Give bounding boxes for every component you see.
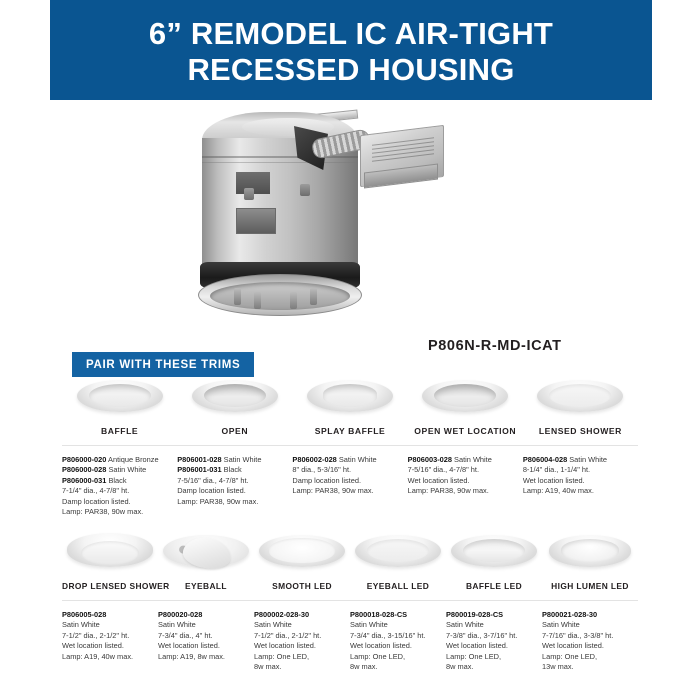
trim-spec-line: 8w max. (350, 662, 440, 672)
trim-label-lensed-shower: LENSED SHOWER (523, 426, 638, 436)
trim-thumb-open (177, 372, 292, 420)
trim-spec-line: P800018-028-CS (350, 610, 440, 620)
trim-spec-line: Satin White (350, 620, 440, 630)
trim-spec-line: P800019-028-CS (446, 610, 536, 620)
trim-cell-splay-baffle[interactable]: SPLAY BAFFLE (292, 372, 407, 436)
trim-label-splay-baffle: SPLAY BAFFLE (292, 426, 407, 436)
housing-clip-3 (290, 292, 297, 309)
trim-spec-line: Lamp: PAR38, 90w max. (62, 507, 169, 517)
trim-spec-line: 7-7/16" dia., 3-3/8" ht. (542, 631, 632, 641)
trim-spec-line: Wet location listed. (542, 641, 632, 651)
trim-spec-line: Lamp: PAR38, 90w max. (408, 486, 515, 496)
trim-spec-line: 8w max. (446, 662, 536, 672)
trim-label-high-lumen-led: HIGH LUMEN LED (542, 581, 638, 591)
model-number: P806N-R-MD-ICAT (428, 338, 562, 354)
trim-spec-line: P806001-028 Satin White (177, 455, 284, 465)
trim-spec-line: P806001-031 Black (177, 465, 284, 475)
trim-label-open: OPEN (177, 426, 292, 436)
baffle-led-trim-icon (451, 531, 537, 571)
trims-grid: BAFFLE OPEN SPLAY (0, 372, 700, 679)
trim-spec-line: Lamp: PAR38, 90w max. (292, 486, 399, 496)
trim-label-eyeball: EYEBALL (158, 581, 254, 591)
trim-spec-line: 7-3/8" dia., 3-7/16" ht. (446, 631, 536, 641)
trim-spec-line: Lamp: One LED, (542, 652, 632, 662)
housing-clip-4 (310, 288, 317, 305)
drop-lensed-shower-trim-icon (67, 531, 153, 571)
trim-cell-high-lumen-led[interactable]: HIGH LUMEN LED (542, 527, 638, 591)
trim-spec-open-wet-location: P806003-028 Satin White7-5/16" dia., 4-7… (408, 455, 523, 517)
trim-spec-line: Lamp: One LED, (254, 652, 344, 662)
trim-spec-line: 7-3/4" dia., 3-15/16" ht. (350, 631, 440, 641)
trim-spec-line: Wet location listed. (446, 641, 536, 651)
splay-baffle-trim-icon (307, 376, 393, 416)
trim-spec-line: Damp location listed. (62, 497, 169, 507)
trim-spec-line: P806005-028 (62, 610, 152, 620)
trims-row-1-thumbnails: BAFFLE OPEN SPLAY (0, 372, 700, 436)
eyeball-led-trim-icon (355, 531, 441, 571)
trim-spec-line: P806000-020 Antique Bronze (62, 455, 169, 465)
trim-spec-line: Wet location listed. (350, 641, 440, 651)
trim-thumb-drop-lensed-shower (62, 527, 158, 575)
trim-spec-line: Satin White (542, 620, 632, 630)
housing-cylinder (202, 138, 358, 278)
hero-product-section: P806N-R-MD-ICAT (0, 104, 700, 334)
high-lumen-led-trim-icon (547, 531, 633, 571)
housing-tab-left (244, 188, 254, 200)
housing-clip-1 (234, 288, 241, 305)
trim-thumb-baffle (62, 372, 177, 420)
trim-cell-lensed-shower[interactable]: LENSED SHOWER (523, 372, 638, 436)
housing-clip-2 (254, 292, 261, 309)
trim-spec-line: P806000-028 Satin White (62, 465, 169, 475)
trim-thumb-eyeball-led (350, 527, 446, 575)
trim-spec-line: 7-1/2" dia., 2-1/2" ht. (62, 631, 152, 641)
trim-spec-line: Wet location listed. (158, 641, 248, 651)
trim-cell-baffle[interactable]: BAFFLE (62, 372, 177, 436)
trim-cell-open-wet-location[interactable]: OPEN WET LOCATION (408, 372, 523, 436)
spec-sheet-page: 6” REMODEL IC AIR-TIGHT RECESSED HOUSING (0, 0, 700, 700)
lensed-shower-trim-icon (537, 376, 623, 416)
trim-label-drop-lensed-shower: DROP LENSED SHOWER (62, 581, 158, 591)
trim-cell-baffle-led[interactable]: BAFFLE LED (446, 527, 542, 591)
trim-spec-line: Damp location listed. (177, 486, 284, 496)
trim-spec-baffle-led: P800019-028-CSSatin White7-3/8" dia., 3-… (446, 610, 542, 672)
trim-label-eyeball-led: EYEBALL LED (350, 581, 446, 591)
trim-thumb-lensed-shower (523, 372, 638, 420)
trim-spec-line: 8" dia., 5-3/16" ht. (292, 465, 399, 475)
trim-spec-drop-lensed-shower: P806005-028Satin White7-1/2" dia., 2-1/2… (62, 610, 158, 672)
trim-label-smooth-led: SMOOTH LED (254, 581, 350, 591)
trim-label-baffle: BAFFLE (62, 426, 177, 436)
trim-spec-line: P800020-028 (158, 610, 248, 620)
page-title-line-1: 6” REMODEL IC AIR-TIGHT (149, 16, 553, 52)
trim-spec-line: Wet location listed. (254, 641, 344, 651)
page-header-banner: 6” REMODEL IC AIR-TIGHT RECESSED HOUSING (50, 0, 652, 100)
trim-spec-smooth-led: P800002-028-30Satin White7-1/2" dia., 2-… (254, 610, 350, 672)
trims-row-2: DROP LENSED SHOWER EYEBALL (0, 527, 700, 679)
trim-cell-drop-lensed-shower[interactable]: DROP LENSED SHOWER (62, 527, 158, 591)
trim-spec-open: P806001-028 Satin WhiteP806001-031 Black… (177, 455, 292, 517)
trim-spec-eyeball-led: P800018-028-CSSatin White7-3/4" dia., 3-… (350, 610, 446, 672)
trim-spec-line: P806002-028 Satin White (292, 455, 399, 465)
trim-cell-eyeball[interactable]: EYEBALL (158, 527, 254, 591)
open-wet-location-trim-icon (422, 376, 508, 416)
housing-socket-box (236, 208, 276, 234)
trim-spec-line: Satin White (158, 620, 248, 630)
trim-cell-smooth-led[interactable]: SMOOTH LED (254, 527, 350, 591)
trim-spec-line: Lamp: One LED, (446, 652, 536, 662)
trim-spec-line: Lamp: A19, 8w max. (158, 652, 248, 662)
trim-spec-line: Damp location listed. (292, 476, 399, 486)
trim-spec-line: Wet location listed. (523, 476, 630, 486)
trim-spec-line: P806000-031 Black (62, 476, 169, 486)
trim-spec-line: 8w max. (254, 662, 344, 672)
smooth-led-trim-icon (259, 531, 345, 571)
trim-thumb-smooth-led (254, 527, 350, 575)
trim-thumb-eyeball (158, 527, 254, 575)
housing-seam-upper (202, 156, 358, 158)
trim-spec-line: P806003-028 Satin White (408, 455, 515, 465)
trim-spec-line: Wet location listed. (62, 641, 152, 651)
page-title-line-2: RECESSED HOUSING (187, 52, 514, 88)
trims-row-2-thumbnails: DROP LENSED SHOWER EYEBALL (0, 527, 700, 591)
trim-cell-eyeball-led[interactable]: EYEBALL LED (350, 527, 446, 591)
trim-spec-line: Satin White (62, 620, 152, 630)
trim-spec-line: Lamp: One LED, (350, 652, 440, 662)
trim-spec-line: 7-3/4" dia., 4" ht. (158, 631, 248, 641)
trim-spec-baffle: P806000-020 Antique BronzeP806000-028 Sa… (62, 455, 177, 517)
trim-spec-eyeball: P800020-028Satin White7-3/4" dia., 4" ht… (158, 610, 254, 672)
trims-row-1: BAFFLE OPEN SPLAY (0, 372, 700, 527)
baffle-trim-icon (77, 376, 163, 416)
trim-spec-line: P800002-028-30 (254, 610, 344, 620)
trim-spec-line: Wet location listed. (408, 476, 515, 486)
recessed-housing-illustration (186, 112, 446, 317)
trims-row-2-specs: P806005-028Satin White7-1/2" dia., 2-1/2… (0, 601, 700, 672)
trim-spec-lensed-shower: P806004-028 Satin White8-1/4" dia., 1-1/… (523, 455, 638, 517)
housing-seam-lower (202, 162, 358, 163)
trim-spec-line: 7-5/16" dia., 4-7/8" ht. (177, 476, 284, 486)
trim-thumb-baffle-led (446, 527, 542, 575)
trim-spec-line: Lamp: A19, 40w max. (62, 652, 152, 662)
housing-rim-opening (210, 282, 350, 310)
trim-spec-line: Satin White (254, 620, 344, 630)
trim-spec-high-lumen-led: P800021-028-30Satin White7-7/16" dia., 3… (542, 610, 638, 672)
housing-tab-right (300, 184, 310, 196)
trim-label-open-wet-location: OPEN WET LOCATION (408, 426, 523, 436)
trim-spec-line: P800021-028-30 (542, 610, 632, 620)
eyeball-trim-icon (163, 531, 249, 571)
trim-spec-line: Lamp: A19, 40w max. (523, 486, 630, 496)
trim-spec-line: 8-1/4" dia., 1-1/4" ht. (523, 465, 630, 475)
open-trim-icon (192, 376, 278, 416)
trim-spec-line: Satin White (446, 620, 536, 630)
trim-spec-line: 7-5/16" dia., 4-7/8" ht. (408, 465, 515, 475)
trim-label-baffle-led: BAFFLE LED (446, 581, 542, 591)
trim-cell-open[interactable]: OPEN (177, 372, 292, 436)
trim-spec-line: P806004-028 Satin White (523, 455, 630, 465)
trim-thumb-splay-baffle (292, 372, 407, 420)
trims-row-1-specs: P806000-020 Antique BronzeP806000-028 Sa… (0, 446, 700, 517)
trim-spec-line: 7-1/2" dia., 2-1/2" ht. (254, 631, 344, 641)
trim-spec-line: 7-1/4" dia., 4-7/8" ht. (62, 486, 169, 496)
trim-spec-line: 13w max. (542, 662, 632, 672)
trim-spec-line: Lamp: PAR38, 90w max. (177, 497, 284, 507)
trim-thumb-open-wet-location (408, 372, 523, 420)
trim-spec-splay-baffle: P806002-028 Satin White8" dia., 5-3/16" … (292, 455, 407, 517)
trim-thumb-high-lumen-led (542, 527, 638, 575)
